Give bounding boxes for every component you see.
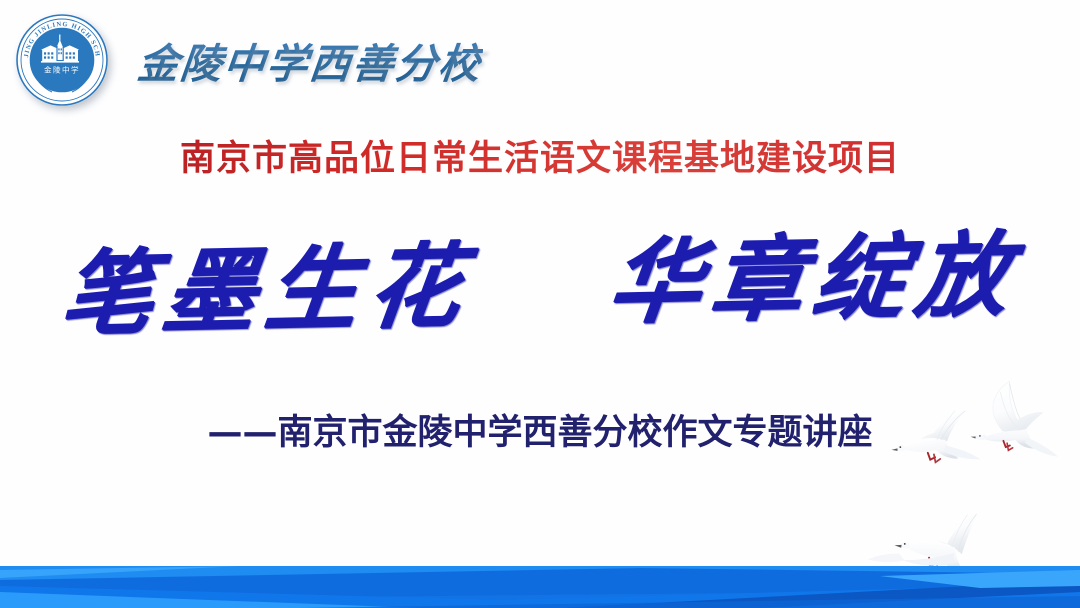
headline-spacer — [509, 315, 563, 316]
project-title: 南京市高品位日常生活语文课程基地建设项目 — [0, 130, 1080, 181]
brand-lockup: NANJING JINLING HIGH SCHOOL 1888 — [14, 8, 482, 112]
school-crest-icon: NANJING JINLING HIGH SCHOOL 1888 — [14, 12, 110, 108]
presentation-slide: NANJING JINLING HIGH SCHOOL 1888 — [0, 0, 1080, 608]
headline-phrase-right: 华章绽放 — [603, 220, 1025, 337]
subtitle: ——南京市金陵中学西善分校作文专题讲座 — [0, 404, 1080, 455]
headline-phrase-left: 笔墨生花 — [55, 231, 477, 348]
school-name-calligraphy: 金陵中学西善分校 — [135, 30, 485, 90]
svg-text:金陵中学: 金陵中学 — [44, 65, 80, 75]
page-title: 笔墨生花 华章绽放 — [0, 225, 1080, 344]
blue-wave-ribbon — [0, 566, 1080, 608]
